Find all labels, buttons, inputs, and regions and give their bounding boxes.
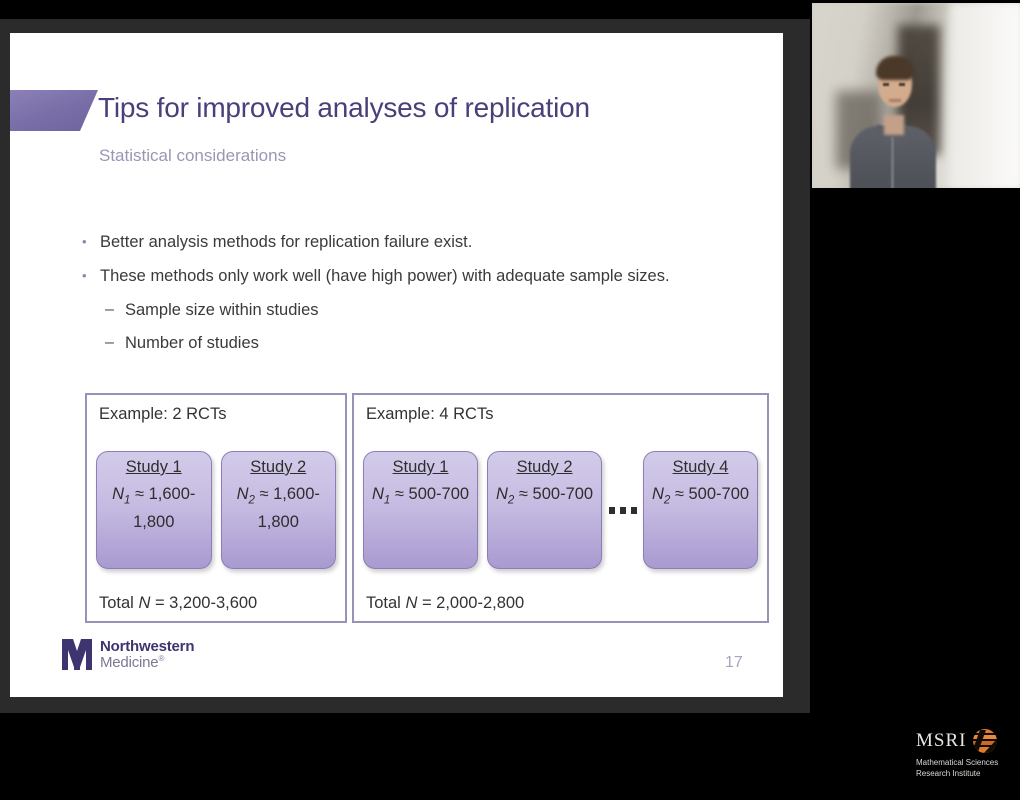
presenter-eye-right	[899, 83, 905, 86]
northwestern-medicine-logo: Northwestern Medicine®	[62, 638, 194, 671]
bullet-text: Better analysis methods for replication …	[100, 231, 472, 253]
total-n-symbol: N	[138, 594, 150, 612]
bullet-marker-icon: •	[82, 265, 100, 287]
total-prefix: Total	[366, 594, 405, 612]
page-subtitle: Statistical considerations	[99, 146, 286, 166]
study-sample-size: N1 ≈ 1,600-1,800	[97, 483, 211, 533]
n-value: ≈ 500-700	[395, 485, 469, 503]
study-label: Study 1	[393, 458, 449, 477]
study-sample-size: N2 ≈ 500-700	[648, 483, 753, 511]
study-box: Study 1 N1 ≈ 500-700	[363, 451, 478, 569]
sub-bullet-item: – Number of studies	[105, 332, 742, 354]
panel-title: Example: 4 RCTs	[366, 405, 758, 424]
slide-canvas: Tips for improved analyses of replicatio…	[10, 33, 783, 697]
title-banner-shape	[10, 90, 98, 131]
nm-monogram-icon	[62, 638, 92, 671]
study-sample-size: N1 ≈ 500-700	[368, 483, 473, 511]
logo-medicine-text: Medicine	[100, 654, 158, 671]
study-sample-size: N2 ≈ 1,600-1,800	[222, 483, 336, 533]
dash-marker-icon: –	[105, 299, 125, 321]
study-box-row: Study 1 N1 ≈ 500-700 Study 2 N2 ≈ 500-70…	[363, 433, 758, 587]
panel-title: Example: 2 RCTs	[99, 405, 336, 424]
study-box: Study 2 N2 ≈ 500-700	[487, 451, 602, 569]
example-panel-2-rcts: Example: 2 RCTs Study 1 N1 ≈ 1,600-1,800…	[85, 393, 347, 623]
total-prefix: Total	[99, 594, 138, 612]
study-box: Study 1 N1 ≈ 1,600-1,800	[96, 451, 212, 569]
page-title: Tips for improved analyses of replicatio…	[98, 92, 590, 124]
bullet-text: These methods only work well (have high …	[100, 265, 670, 287]
study-sample-size: N2 ≈ 500-700	[492, 483, 597, 511]
msri-name-line2: Research Institute	[916, 768, 1012, 779]
n-subscript: 2	[508, 494, 514, 506]
n-subscript: 2	[664, 494, 670, 506]
n-symbol: N	[112, 485, 124, 503]
msri-watermark: MSRI Mathematical Scienc	[916, 728, 1012, 779]
msri-emblem-icon	[970, 728, 1000, 754]
presenter-shirt-placket	[891, 137, 894, 188]
n-value: ≈ 1,600-1,800	[258, 485, 320, 531]
bullet-list: • Better analysis methods for replicatio…	[82, 231, 742, 365]
n-symbol: N	[652, 485, 664, 503]
presenter-video-feed[interactable]	[812, 3, 1020, 188]
ellipsis-dot	[609, 507, 615, 514]
ellipsis-dot	[631, 507, 637, 514]
video-background-bright-wall	[950, 3, 1020, 188]
n-subscript: 1	[124, 494, 130, 506]
sub-bullet-text: Sample size within studies	[125, 299, 319, 321]
dash-marker-icon: –	[105, 332, 125, 354]
bullet-marker-icon: •	[82, 231, 100, 253]
panel-total: Total N = 2,000-2,800	[366, 594, 758, 613]
total-suffix: = 3,200-3,600	[150, 594, 257, 612]
n-value: ≈ 1,600-1,800	[133, 485, 195, 531]
total-suffix: = 2,000-2,800	[417, 594, 524, 612]
msri-full-name: Mathematical Sciences Research Institute	[916, 757, 1012, 779]
study-label: Study 2	[250, 458, 306, 477]
n-symbol: N	[372, 485, 384, 503]
presenter-eye-left	[883, 83, 889, 86]
study-box-row: Study 1 N1 ≈ 1,600-1,800 Study 2 N2 ≈ 1,…	[96, 433, 336, 587]
study-label: Study 4	[673, 458, 729, 477]
presenter-hair	[876, 56, 914, 80]
n-value: ≈ 500-700	[519, 485, 593, 503]
msri-wordmark: MSRI	[916, 730, 966, 752]
presenter-neck	[884, 115, 904, 135]
total-n-symbol: N	[405, 594, 417, 612]
n-subscript: 1	[384, 494, 390, 506]
sub-bullet-item: – Sample size within studies	[105, 299, 742, 321]
study-box: Study 2 N2 ≈ 1,600-1,800	[221, 451, 337, 569]
bullet-item: • These methods only work well (have hig…	[82, 265, 742, 287]
presentation-stage: Tips for improved analyses of replicatio…	[0, 0, 1020, 800]
example-panel-4-rcts: Example: 4 RCTs Study 1 N1 ≈ 500-700 Stu…	[352, 393, 769, 623]
logo-wordmark: Northwestern Medicine®	[100, 639, 194, 671]
sub-bullet-text: Number of studies	[125, 332, 259, 354]
study-box: Study 4 N2 ≈ 500-700	[643, 451, 758, 569]
trademark-icon: ®	[158, 654, 164, 663]
ellipsis-icon	[602, 507, 643, 514]
bullet-item: • Better analysis methods for replicatio…	[82, 231, 742, 253]
ellipsis-dot	[620, 507, 626, 514]
study-label: Study 1	[126, 458, 182, 477]
msri-name-line1: Mathematical Sciences	[916, 757, 1012, 768]
n-value: ≈ 500-700	[675, 485, 749, 503]
slide-number: 17	[725, 654, 743, 672]
logo-line-medicine: Medicine®	[100, 655, 194, 671]
n-symbol: N	[237, 485, 249, 503]
logo-line-northwestern: Northwestern	[100, 639, 194, 655]
msri-logo-row: MSRI	[916, 728, 1012, 754]
n-symbol: N	[496, 485, 508, 503]
study-label: Study 2	[517, 458, 573, 477]
example-panels: Example: 2 RCTs Study 1 N1 ≈ 1,600-1,800…	[85, 393, 769, 623]
n-subscript: 2	[248, 494, 254, 506]
panel-total: Total N = 3,200-3,600	[99, 594, 336, 613]
presenter-mouth	[889, 99, 901, 102]
